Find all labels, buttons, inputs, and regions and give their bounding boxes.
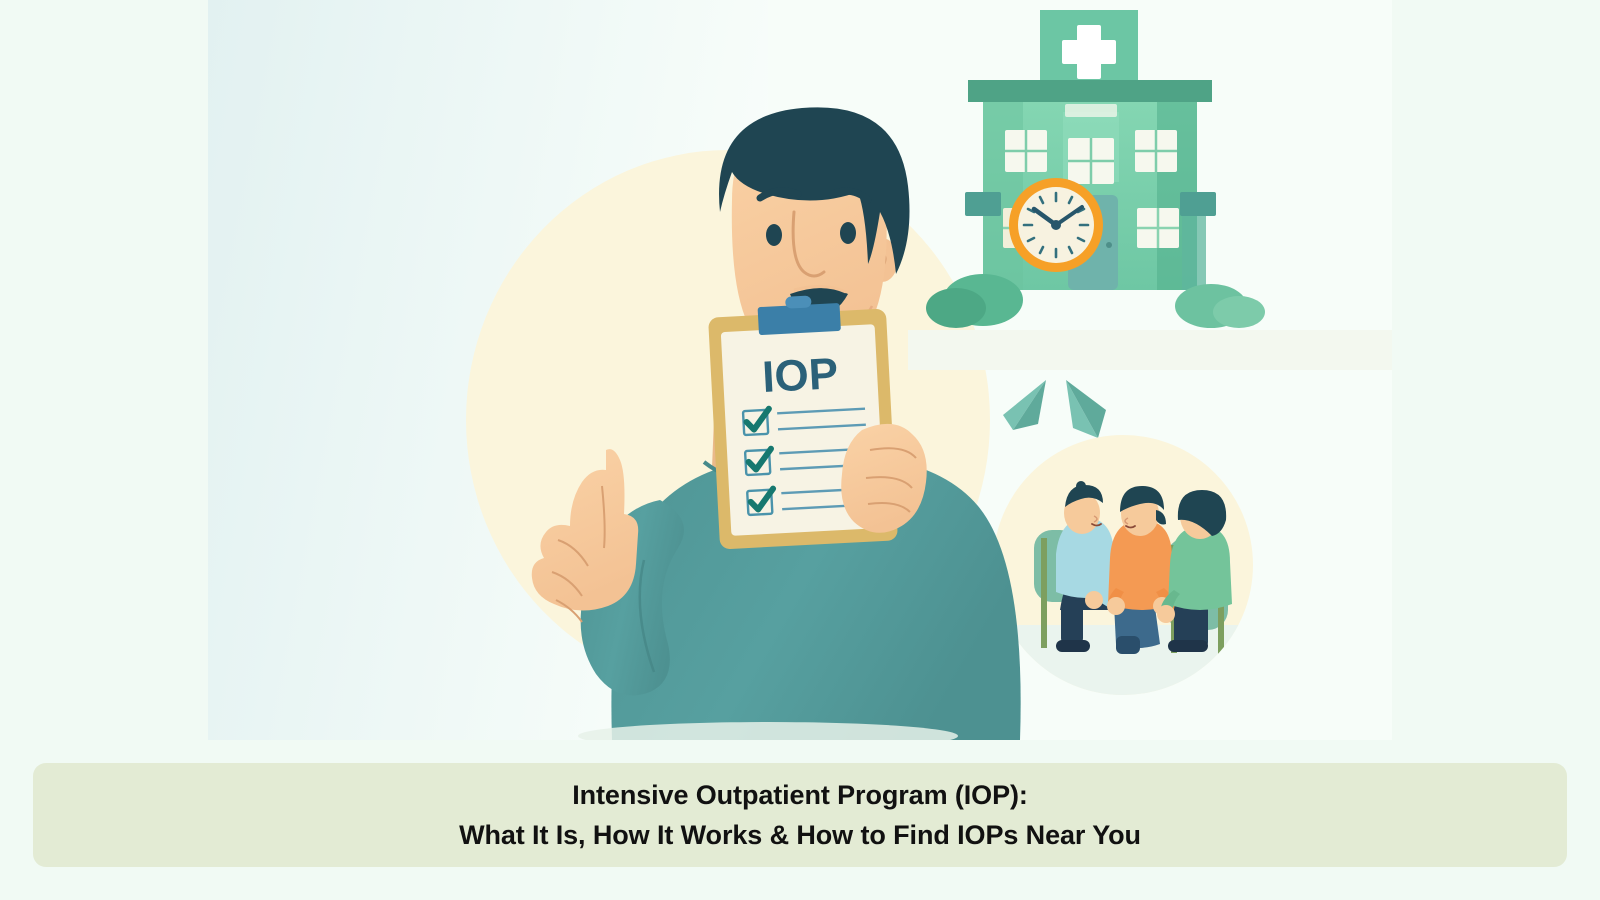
caption-bar: Intensive Outpatient Program (IOP): What… xyxy=(33,763,1567,867)
clipboard-heading: IOP xyxy=(761,349,839,402)
hero-image: IOP xyxy=(0,0,1600,900)
illustration-canvas: IOP xyxy=(208,0,1392,740)
caption-line-2: What It Is, How It Works & How to Find I… xyxy=(459,815,1141,855)
presenter-eye-right xyxy=(840,222,856,244)
wall-clock xyxy=(1009,178,1103,272)
presenter-eye-left xyxy=(766,224,782,246)
caption-line-1: Intensive Outpatient Program (IOP): xyxy=(572,775,1028,815)
